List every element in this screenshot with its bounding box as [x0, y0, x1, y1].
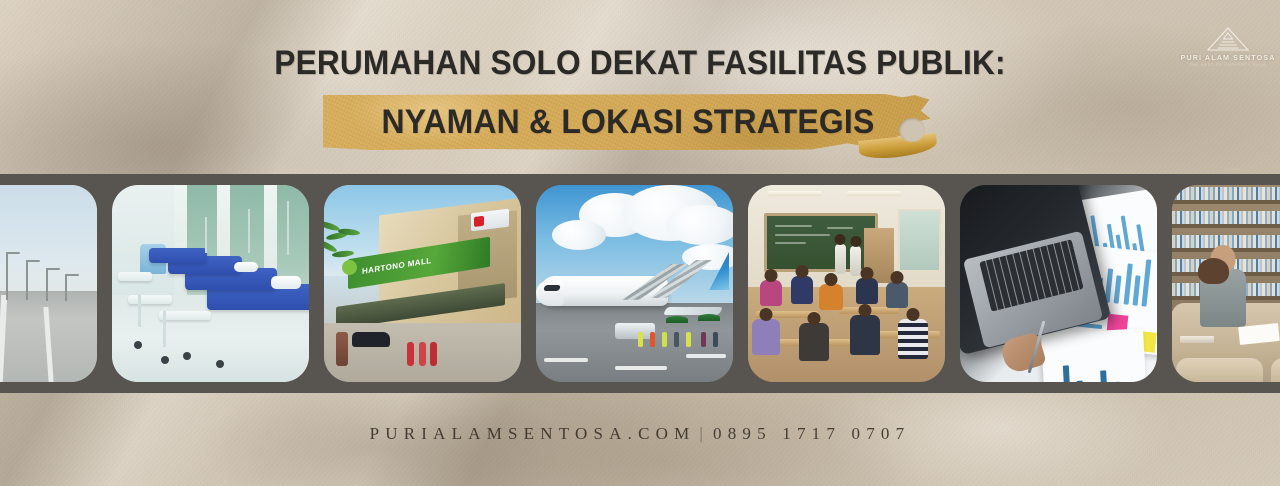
chalk-line — [775, 242, 805, 244]
book — [1180, 336, 1214, 343]
road-sky — [0, 185, 97, 299]
airport-photo[interactable] — [536, 185, 733, 382]
ground-umbrella — [666, 316, 688, 323]
street-lamp-arm — [26, 260, 40, 262]
chart-bar — [1114, 275, 1122, 304]
footer-phone[interactable]: 0895 1717 0707 — [713, 424, 910, 444]
ceiling-light — [847, 191, 901, 196]
chart-bar — [1141, 260, 1151, 307]
mall-photo[interactable]: HARTONO MALL — [324, 185, 521, 382]
chalk-line — [827, 227, 853, 229]
ground-crew — [662, 332, 667, 347]
apron-marking — [615, 366, 667, 370]
passenger — [713, 332, 718, 347]
hospital-bedside-table — [128, 295, 172, 304]
leaf — [324, 238, 338, 254]
apron-marking — [544, 358, 588, 362]
street-lamp-arm — [46, 268, 60, 270]
open-book — [1238, 323, 1280, 345]
chart-bar — [1132, 275, 1140, 306]
passenger — [701, 332, 706, 347]
table-leg — [163, 311, 166, 347]
student — [850, 315, 880, 355]
street-lamp-pole — [6, 252, 8, 300]
hospital-bedside-table — [159, 311, 211, 320]
chalk-line — [775, 234, 829, 236]
shopper — [419, 342, 426, 366]
ceiling-light — [768, 191, 822, 196]
passenger — [674, 332, 679, 347]
chart-bar — [1063, 365, 1071, 382]
chart-document — [1041, 328, 1147, 382]
footer-separator: | — [695, 424, 713, 444]
ground-service-truck — [615, 323, 655, 339]
iv-stand — [287, 201, 289, 255]
student — [819, 284, 843, 310]
student — [799, 323, 829, 361]
iv-stand — [248, 209, 250, 253]
student — [791, 276, 813, 304]
street-lamp-pole — [26, 260, 28, 300]
cloud — [666, 205, 733, 245]
iv-stand — [205, 217, 207, 253]
page-title-line2: NYAMAN & LOKASI STRATEGIS — [341, 94, 914, 150]
hospital-column — [174, 185, 187, 307]
facility-photo-strip: Karanganom Prambanan Yogyakarta ↑ ↙ — [0, 174, 1280, 393]
apron-marking — [686, 354, 726, 358]
ground-umbrella — [698, 314, 720, 321]
brand-logo: PURI ALAM SENTOSA THE BEST OF PROPERTY S… — [1186, 26, 1270, 72]
hospital-bedside-table — [118, 272, 152, 281]
hospital-bed — [149, 248, 207, 263]
bed-wheel — [134, 341, 142, 349]
sofa-cushion — [1176, 358, 1263, 382]
mountain-triangle-logo-icon — [1205, 26, 1251, 52]
street-lamp-arm — [6, 252, 20, 254]
street-lamp-pole — [46, 268, 48, 301]
hair — [1198, 258, 1229, 284]
ground-crew — [686, 332, 691, 347]
classroom-window — [898, 209, 941, 272]
teacher — [850, 246, 861, 276]
hospital-pillow — [271, 276, 301, 289]
chart-bar — [1123, 264, 1132, 305]
bookshelf-row — [1172, 211, 1280, 228]
parked-car — [352, 332, 390, 347]
shopper — [430, 342, 437, 366]
student — [752, 319, 780, 355]
chalk-line — [775, 225, 812, 227]
school-photo[interactable] — [748, 185, 945, 382]
tenant-logo-icon — [474, 215, 484, 226]
student — [856, 278, 878, 304]
ground-crew — [638, 332, 643, 347]
student — [760, 280, 782, 306]
teacher — [835, 244, 846, 274]
student — [898, 319, 928, 359]
aircraft-nose — [536, 280, 564, 306]
hospital-pillow — [234, 262, 258, 272]
footer-contact: PURIALAMSENTOSA.COM | 0895 1717 0707 — [0, 414, 1280, 454]
footer-website[interactable]: PURIALAMSENTOSA.COM — [370, 424, 696, 444]
library-photo[interactable] — [1172, 185, 1280, 382]
bookshelf-row — [1172, 187, 1280, 204]
mall-tree — [324, 217, 368, 273]
toll-road-photo[interactable]: Karanganom Prambanan Yogyakarta ↑ ↙ — [0, 185, 97, 382]
street-lamp-pole — [65, 274, 67, 301]
table-leg — [138, 295, 141, 327]
headline-highlight-band: NYAMAN & LOKASI STRATEGIS — [323, 94, 933, 150]
logo-tagline: THE BEST OF PROPERTY SOLO — [1189, 63, 1266, 67]
business-photo[interactable] — [960, 185, 1157, 382]
street-lamp-arm — [65, 274, 79, 276]
chart-bar — [1076, 381, 1083, 382]
logo-brand-name: PURI ALAM SENTOSA — [1181, 53, 1276, 62]
chart-bar — [1100, 371, 1108, 382]
ground-crew — [650, 332, 655, 347]
student — [886, 282, 908, 308]
shopper — [336, 332, 348, 366]
hospital-photo[interactable] — [112, 185, 309, 382]
shopper — [407, 342, 414, 366]
